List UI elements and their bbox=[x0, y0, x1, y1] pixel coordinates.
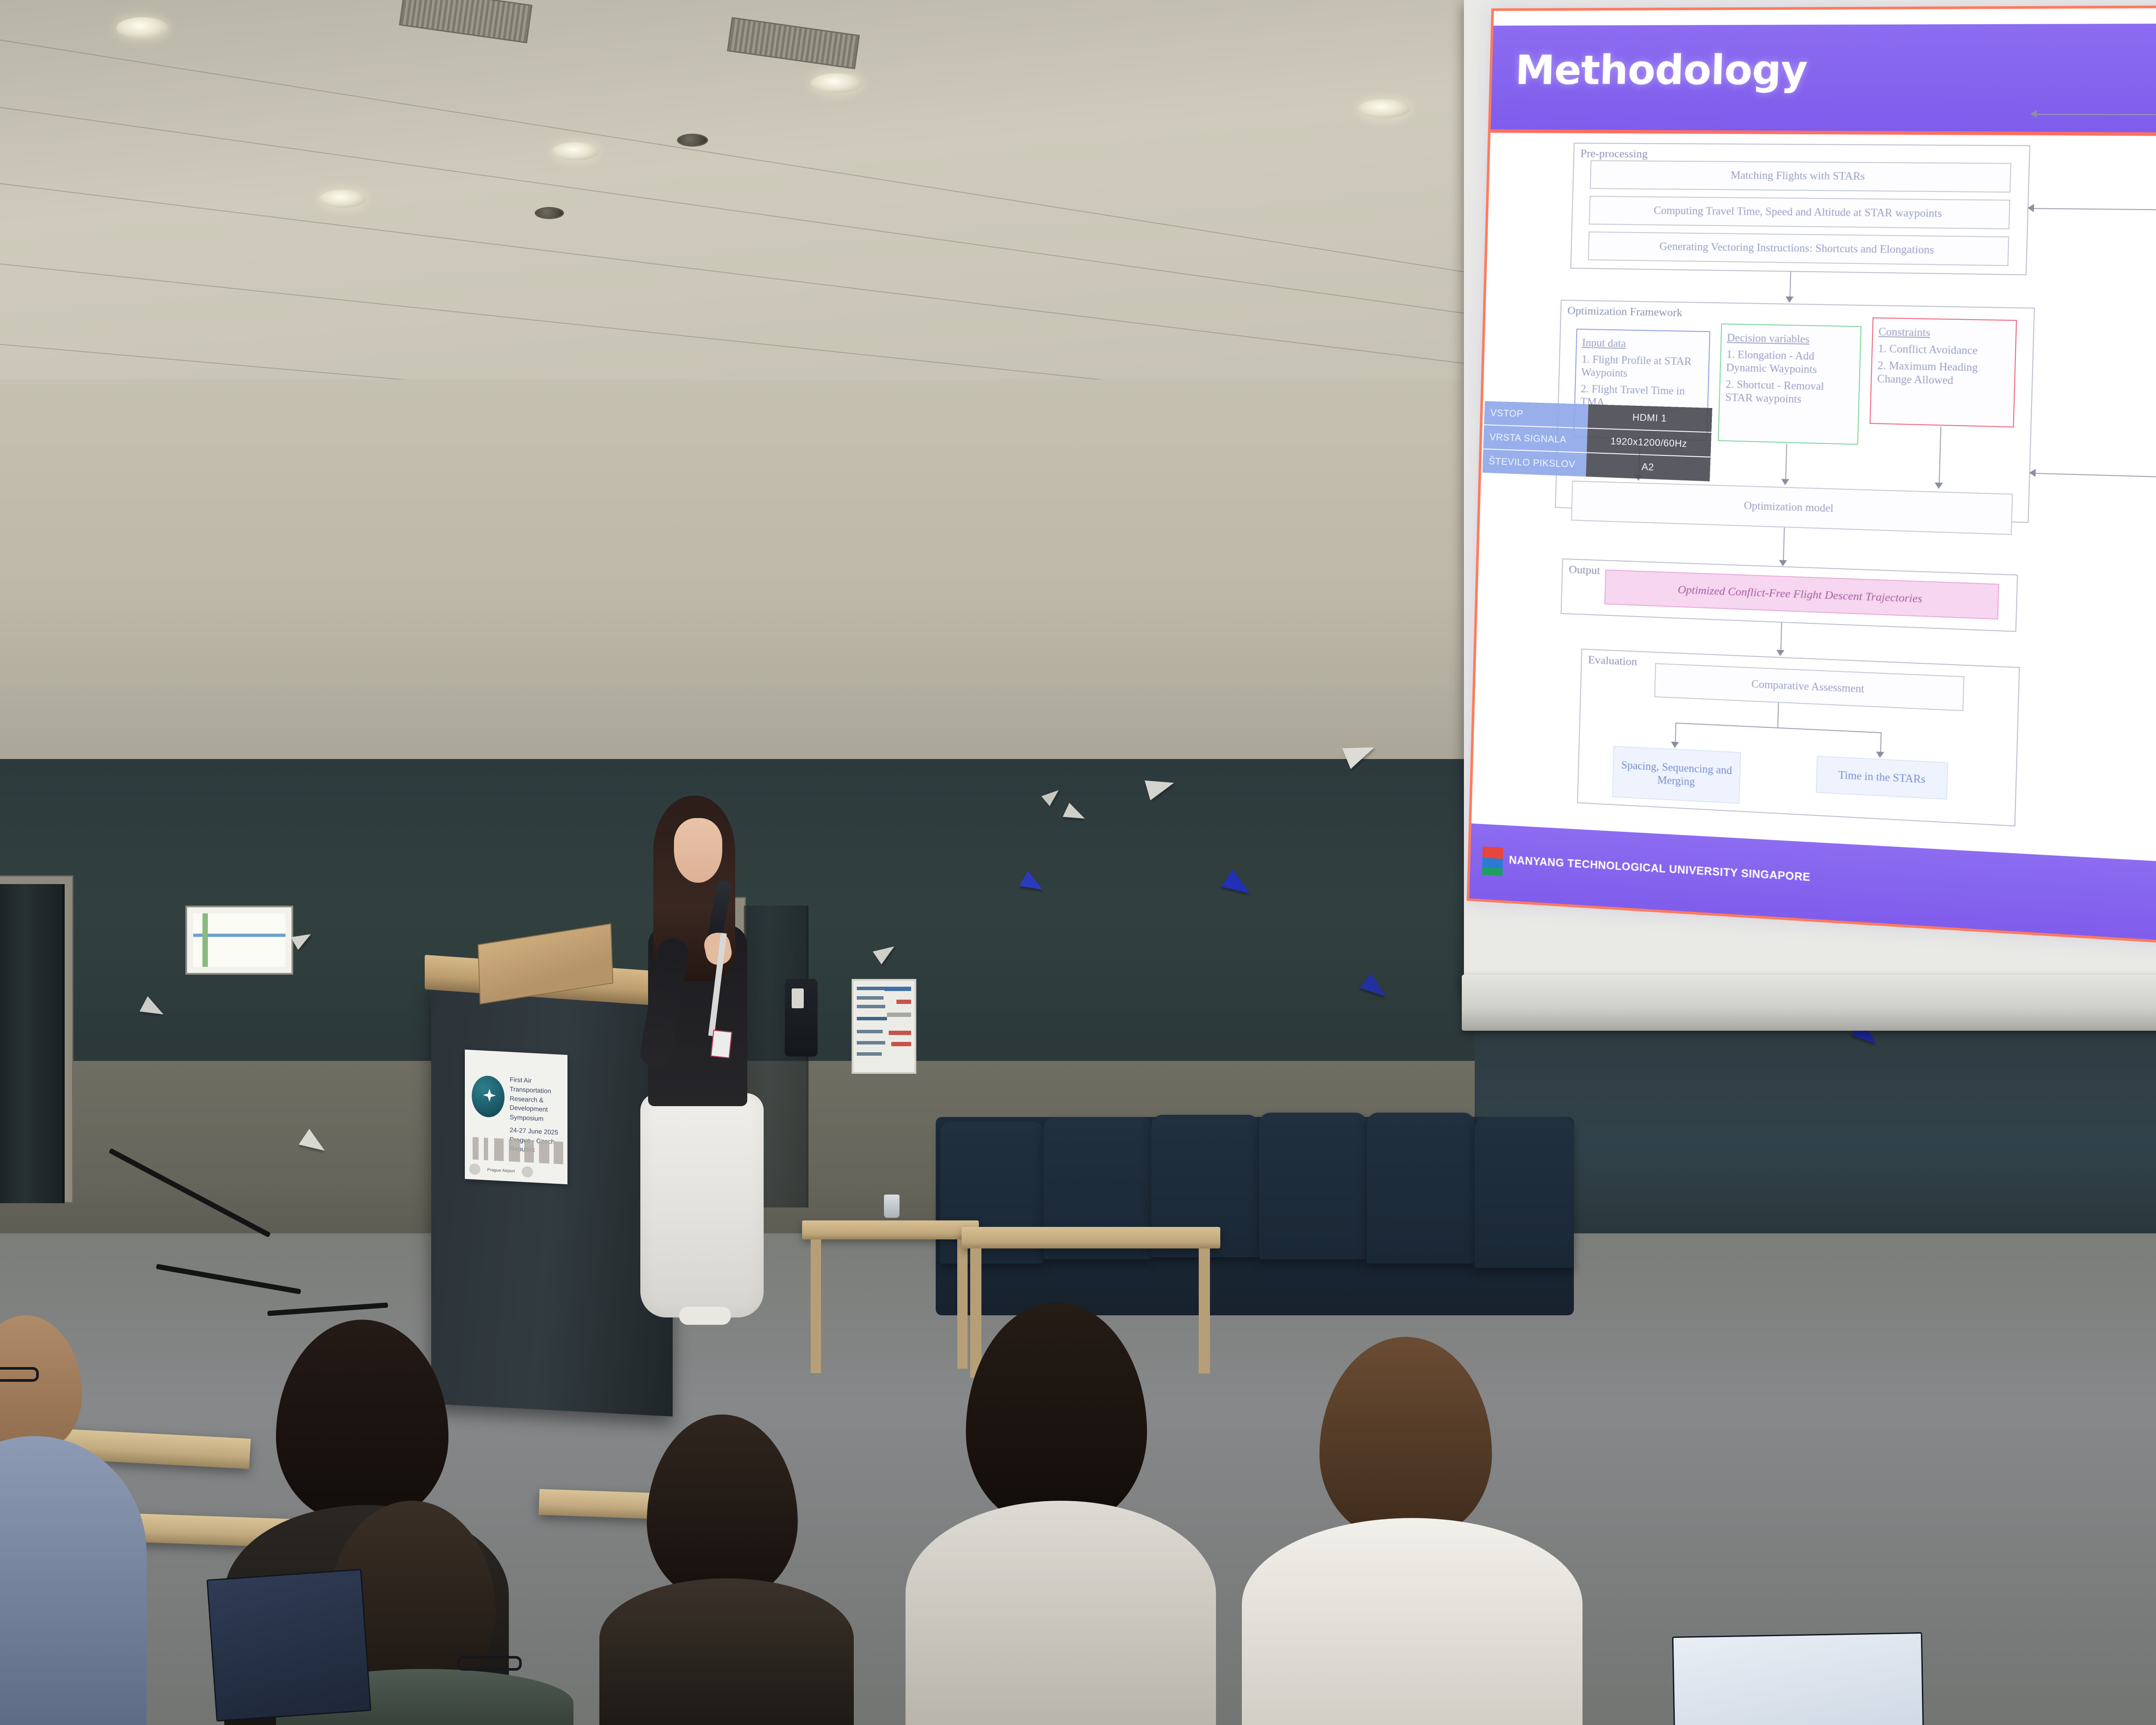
table-leg bbox=[811, 1239, 821, 1373]
decision-variables-heading: Decision variables bbox=[1727, 332, 1810, 346]
arrowhead-icon bbox=[1934, 483, 1943, 489]
eyeglasses-icon bbox=[0, 1367, 39, 1382]
auditorium-chair[interactable] bbox=[1475, 1117, 1574, 1268]
presenter-skirt bbox=[640, 1093, 764, 1317]
event-line-1: First Air Transportation bbox=[510, 1075, 565, 1097]
projector-osd: VSTOP HDMI 1 VRSTA SIGNALA 1920x1200/60H… bbox=[1482, 401, 1712, 496]
connector bbox=[1783, 527, 1785, 562]
footer-institution: NANYANG TECHNOLOGICAL UNIVERSITY SINGAPO… bbox=[1509, 854, 1811, 884]
preprocessing-step-2: Computing Travel Time, Speed and Altitud… bbox=[1589, 196, 2010, 229]
arrowhead-icon bbox=[2029, 469, 2036, 477]
arrowhead-icon bbox=[1785, 296, 1793, 303]
table-leg bbox=[1199, 1248, 1210, 1374]
evacuation-plan bbox=[185, 906, 293, 975]
presenter bbox=[636, 796, 761, 1296]
preprocessing-step-3: Generating Vectoring Instructions: Short… bbox=[1588, 232, 2009, 266]
auditorium-chair[interactable] bbox=[1367, 1113, 1475, 1264]
preprocessing-label: Pre-processing bbox=[1580, 147, 1648, 160]
arrowhead-icon bbox=[2028, 204, 2034, 212]
upper-wall bbox=[0, 379, 1595, 776]
evaluation-metric-1: Spacing, Sequencing and Merging bbox=[1612, 746, 1741, 804]
slide-flowchart: Pre-processing Matching Flights with STA… bbox=[1469, 138, 2156, 870]
connector bbox=[2035, 473, 2156, 479]
constraints-item-2: 2. Maximum Heading Change Allowed bbox=[1877, 359, 2009, 389]
osd-value-input: HDMI 1 bbox=[1588, 404, 1712, 432]
audience-laptop[interactable] bbox=[1672, 1632, 1924, 1725]
arrowhead-icon bbox=[1876, 752, 1884, 758]
osd-label-signal-type: VRSTA SIGNALA bbox=[1483, 425, 1588, 452]
sponsor-logo-icon bbox=[522, 1166, 533, 1178]
decision-variables-item-2: 2. Shortcut - Removal STAR waypoints bbox=[1725, 378, 1854, 408]
arrowhead-icon bbox=[2030, 110, 2037, 118]
osd-value-signal-type: 1920x1200/60Hz bbox=[1587, 429, 1711, 457]
optimization-framework-label: Optimization Framework bbox=[1567, 304, 1683, 319]
ceiling-vent bbox=[727, 17, 860, 69]
wall-telephone[interactable] bbox=[785, 979, 818, 1057]
presenter-shoes bbox=[679, 1307, 731, 1325]
osd-label-pixels: ŠTEVILO PIKSLOV bbox=[1482, 449, 1587, 477]
ceiling bbox=[0, 0, 1595, 423]
evaluation-label: Evaluation bbox=[1588, 653, 1637, 668]
side-table bbox=[962, 1227, 1220, 1248]
event-line-2: Research & Development bbox=[510, 1094, 565, 1116]
arrowhead-icon bbox=[1671, 742, 1679, 748]
ceiling-light bbox=[116, 17, 168, 39]
sponsor-logo-icon bbox=[469, 1163, 480, 1175]
preprocessing-step-1: Matching Flights with STARs bbox=[1590, 160, 2011, 192]
globe-airplane-icon bbox=[472, 1075, 505, 1118]
water-glass[interactable] bbox=[884, 1195, 899, 1218]
ceiling-light bbox=[552, 142, 599, 160]
decision-variables-item-1: 1. Elongation - Add Dynamic Waypoints bbox=[1726, 348, 1855, 377]
ceiling-light bbox=[811, 73, 862, 93]
conference-photo-scene: Methodology Pre-processing Matching Flig… bbox=[0, 0, 2156, 1725]
projection-screen-housing bbox=[1462, 975, 2156, 1031]
emergency-instructions-poster bbox=[852, 979, 916, 1074]
podium-event-sign: First Air Transportation Research & Deve… bbox=[465, 1050, 567, 1184]
eyeglasses-icon bbox=[457, 1656, 522, 1671]
evacuation-map-graphic bbox=[193, 913, 285, 967]
decision-variables-box: Decision variables 1. Elongation - Add D… bbox=[1718, 323, 1861, 445]
auditorium-chair[interactable] bbox=[1259, 1113, 1367, 1259]
dark-wall-band-right bbox=[1475, 1026, 2156, 1233]
connector bbox=[1780, 623, 1782, 652]
audience-member-shoulders bbox=[599, 1578, 854, 1725]
input-data-item-1: 1. Flight Profile at STAR Waypoints bbox=[1581, 353, 1704, 382]
input-data-heading: Input data bbox=[1582, 337, 1626, 351]
output-label: Output bbox=[1569, 563, 1601, 577]
table-leg bbox=[957, 1239, 968, 1369]
ceiling-light bbox=[319, 190, 367, 208]
arrowhead-icon bbox=[1776, 650, 1784, 656]
arrowhead-icon bbox=[1781, 479, 1789, 486]
arrowhead-icon bbox=[1779, 560, 1787, 566]
osd-value-pixels: A2 bbox=[1586, 453, 1711, 482]
table-leg bbox=[970, 1248, 981, 1378]
osd-label-input: VSTOP bbox=[1484, 401, 1589, 428]
name-badge bbox=[711, 1030, 732, 1058]
door[interactable] bbox=[0, 884, 65, 1203]
ceiling-vent bbox=[399, 0, 533, 43]
connector bbox=[1789, 272, 1791, 298]
constraints-box: Constraints 1. Conflict Avoidance 2. Max… bbox=[1870, 317, 2017, 427]
ceiling-speaker-icon bbox=[677, 134, 708, 147]
connector bbox=[2033, 208, 2156, 210]
ceiling-speaker-icon bbox=[535, 207, 564, 219]
ntu-logo bbox=[1482, 847, 1503, 876]
constraints-item-1: 1. Conflict Avoidance bbox=[1878, 342, 1978, 358]
evaluation-metric-2: Time in the STARs bbox=[1816, 756, 1948, 800]
ceiling-light bbox=[1358, 99, 1410, 118]
audience-laptop[interactable] bbox=[207, 1569, 371, 1722]
audience-member-shoulders bbox=[1242, 1518, 1583, 1725]
slide-title: Methodology bbox=[1515, 47, 1808, 94]
prague-skyline-graphic bbox=[469, 1137, 563, 1164]
presenter-face bbox=[674, 818, 722, 883]
constraints-heading: Constraints bbox=[1878, 326, 1930, 340]
sponsor-label-2: Prague Airport bbox=[487, 1167, 515, 1173]
audience-member-shoulders bbox=[906, 1501, 1216, 1725]
side-table bbox=[802, 1220, 979, 1239]
